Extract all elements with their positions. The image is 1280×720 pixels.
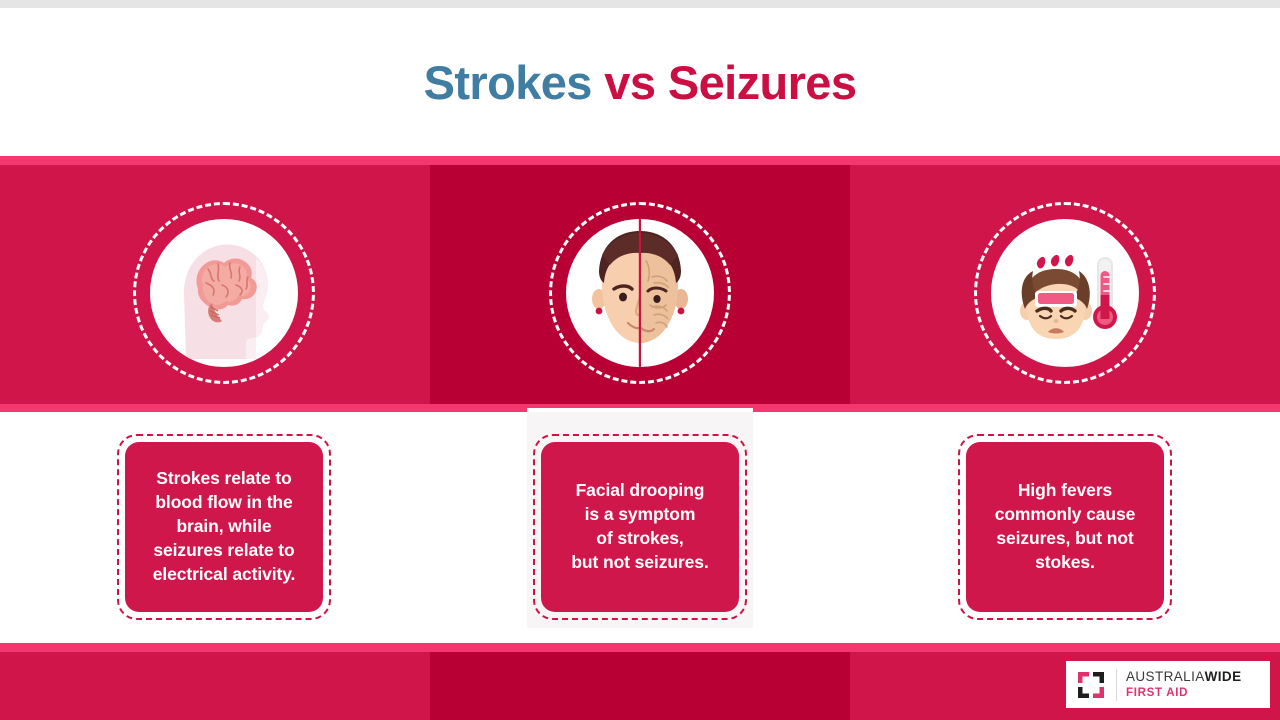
brain-head-icon bbox=[150, 219, 298, 367]
card-body: Strokes relate to blood flow in the brai… bbox=[125, 442, 323, 612]
title-seizures: Seizures bbox=[668, 56, 857, 109]
bottom-band-middle-column bbox=[430, 648, 850, 720]
title-zone: Strokes vs Seizures bbox=[0, 8, 1280, 156]
fever-thermometer-icon bbox=[991, 219, 1139, 367]
brand-logo[interactable]: AUSTRALIAWIDE FIRST AID bbox=[1066, 661, 1270, 708]
card-text: High fevers commonly cause seizures, but… bbox=[995, 479, 1136, 575]
card-body: High fevers commonly cause seizures, but… bbox=[966, 442, 1164, 612]
middle-column-highlight-cap bbox=[527, 408, 753, 412]
statement-card-1: Strokes relate to blood flow in the brai… bbox=[117, 434, 331, 620]
logo-line-2: FIRST AID bbox=[1126, 688, 1241, 700]
logo-australia: AUSTRALIA bbox=[1126, 669, 1205, 684]
title-strokes: Strokes bbox=[424, 56, 592, 109]
infographic-slide: Strokes vs Seizures bbox=[0, 0, 1280, 720]
icon-circle-brain bbox=[133, 202, 315, 384]
icon-disc bbox=[991, 219, 1139, 367]
icon-disc bbox=[150, 219, 298, 367]
logo-line-1: AUSTRALIAWIDE bbox=[1126, 670, 1241, 684]
top-gray-strip bbox=[0, 0, 1280, 8]
icon-circle-face bbox=[549, 202, 731, 384]
statement-card-3: High fevers commonly cause seizures, but… bbox=[958, 434, 1172, 620]
card-text: Strokes relate to blood flow in the brai… bbox=[153, 467, 296, 587]
australia-wide-cross-logo-icon bbox=[1074, 668, 1108, 702]
logo-wide: WIDE bbox=[1205, 669, 1242, 684]
icon-circle-fever bbox=[974, 202, 1156, 384]
bottom-band-accent bbox=[0, 643, 1280, 652]
card-body: Facial drooping is a symptom of strokes,… bbox=[541, 442, 739, 612]
card-text: Facial drooping is a symptom of strokes,… bbox=[571, 479, 708, 575]
title-vs: vs bbox=[592, 56, 668, 109]
logo-divider bbox=[1116, 669, 1117, 701]
logo-wordmark: AUSTRALIAWIDE FIRST AID bbox=[1126, 670, 1241, 700]
icon-disc bbox=[566, 219, 714, 367]
statement-card-2: Facial drooping is a symptom of strokes,… bbox=[533, 434, 747, 620]
page-title: Strokes vs Seizures bbox=[424, 59, 857, 106]
icon-band-top-accent bbox=[0, 156, 1280, 165]
drooping-face-icon bbox=[566, 219, 714, 367]
